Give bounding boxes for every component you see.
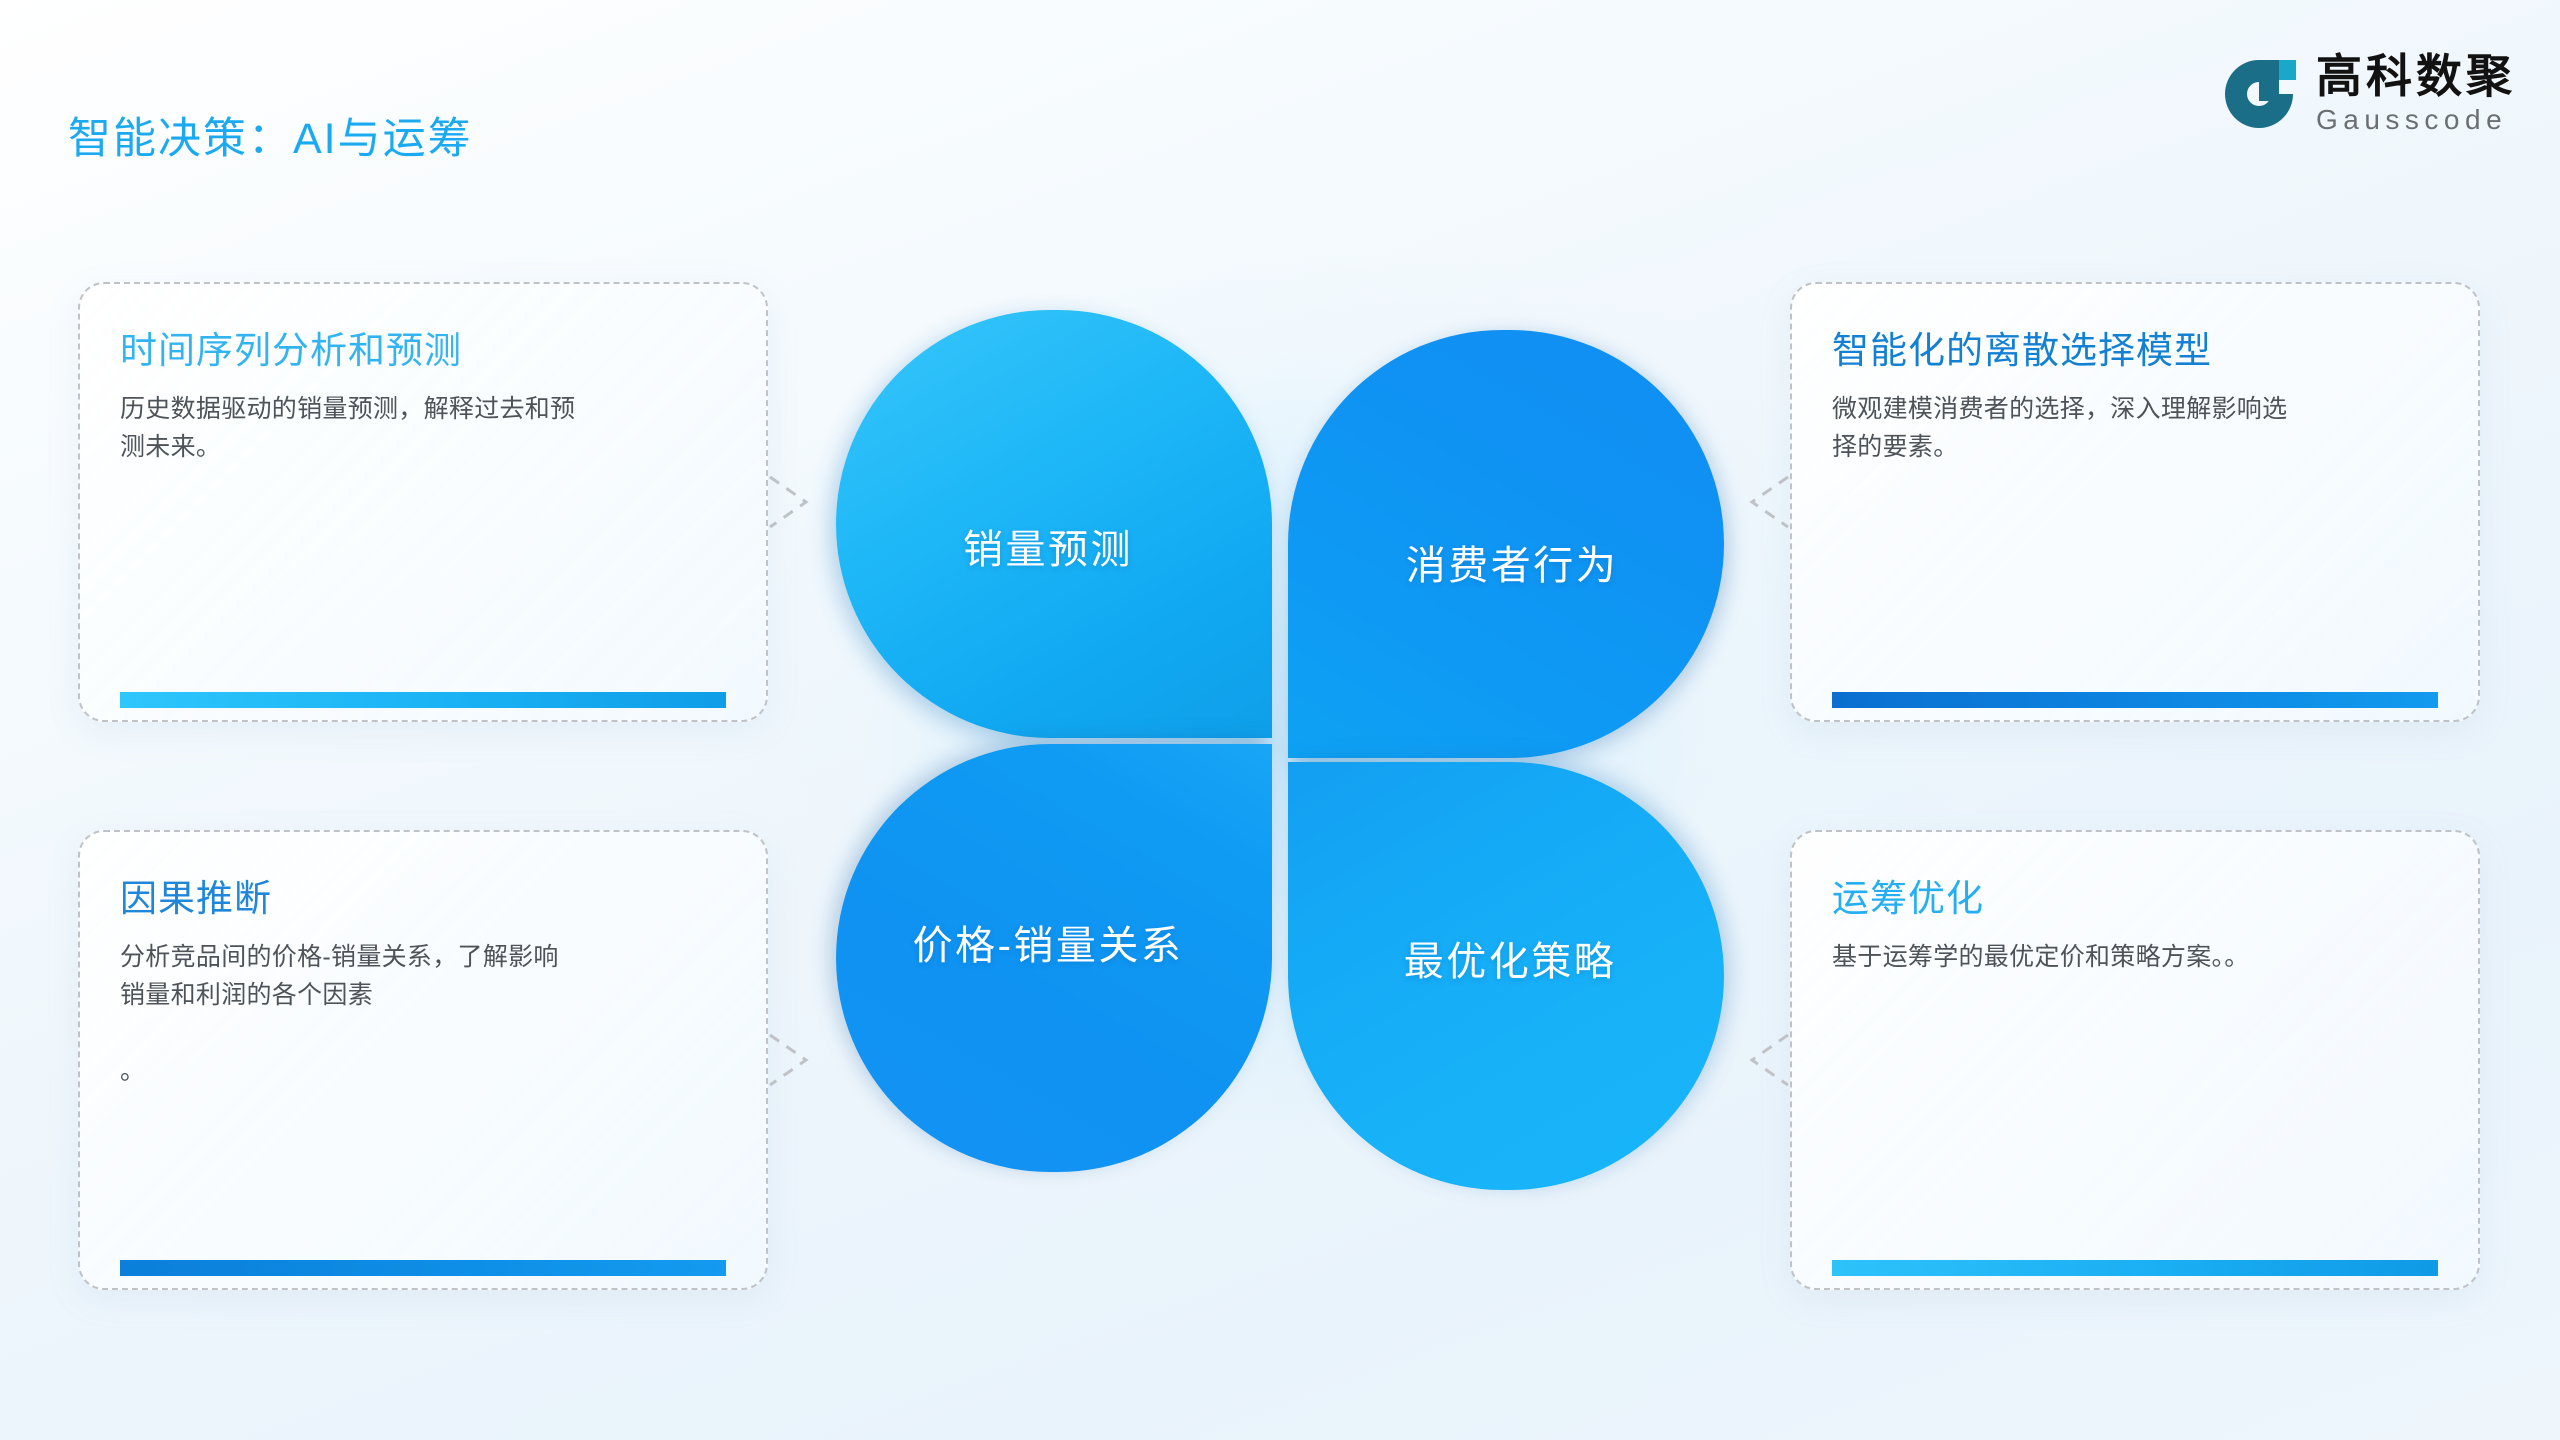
chevron-right-icon [766,1023,816,1097]
brand-logo: 高科数聚 Gausscode [2222,52,2516,136]
petal-price-sales-relation[interactable]: 价格-销量关系 [836,744,1272,1172]
petal-label: 销量预测 [963,517,1133,575]
card-title: 运筹优化 [1832,876,2438,922]
card-title: 智能化的离散选择模型 [1832,328,2438,374]
chevron-right-icon [766,465,816,539]
logo-text: 高科数聚 Gausscode [2316,52,2516,136]
card-content: 智能化的离散选择模型 微观建模消费者的选择，深入理解影响选 择的要素。 [1832,328,2438,466]
card-body: 基于运筹学的最优定价和策略方案。。 [1832,938,2438,976]
chevron-left-icon [1742,465,1792,539]
petal-optimization-strategy[interactable]: 最优化策略 [1288,762,1724,1190]
card-operations-research[interactable]: 运筹优化 基于运筹学的最优定价和策略方案。。 [1790,830,2480,1290]
card-title: 时间序列分析和预测 [120,328,726,374]
petal-label: 最优化策略 [1404,929,1617,987]
card-accent-bar [1832,1260,2438,1276]
petal-label: 消费者行为 [1406,533,1619,591]
card-body: 历史数据驱动的销量预测，解释过去和预 测未来。 [120,390,726,466]
card-content: 时间序列分析和预测 历史数据驱动的销量预测，解释过去和预 测未来。 [120,328,726,466]
card-body: 分析竞品间的价格-销量关系，了解影响 销量和利润的各个因素 。 [120,938,726,1090]
petal-sales-forecast[interactable]: 销量预测 [836,310,1272,738]
logo-chinese-name: 高科数聚 [2316,52,2516,101]
card-body: 微观建模消费者的选择，深入理解影响选 择的要素。 [1832,390,2438,466]
page-header: 智能决策：AI与运筹 高科数聚 Gausscode [0,0,2560,190]
card-accent-bar [1832,692,2438,708]
petal-label: 价格-销量关系 [913,913,1184,971]
logo-english-name: Gausscode [2316,105,2516,136]
four-petal-diagram: 销量预测 消费者行为 价格-销量关系 最优化策略 [836,310,1724,1190]
card-title: 因果推断 [120,876,726,922]
page-title: 智能决策：AI与运筹 [68,104,473,166]
card-causal-inference[interactable]: 因果推断 分析竞品间的价格-销量关系，了解影响 销量和利润的各个因素 。 [78,830,768,1290]
card-accent-bar [120,692,726,708]
petal-consumer-behavior[interactable]: 消费者行为 [1288,330,1724,758]
chevron-left-icon [1742,1023,1792,1097]
card-discrete-choice[interactable]: 智能化的离散选择模型 微观建模消费者的选择，深入理解影响选 择的要素。 [1790,282,2480,722]
card-content: 运筹优化 基于运筹学的最优定价和策略方案。。 [1832,876,2438,976]
card-accent-bar [120,1260,726,1276]
gausscode-logo-mark-icon [2222,57,2296,131]
card-time-series[interactable]: 时间序列分析和预测 历史数据驱动的销量预测，解释过去和预 测未来。 [78,282,768,722]
card-content: 因果推断 分析竞品间的价格-销量关系，了解影响 销量和利润的各个因素 。 [120,876,726,1090]
